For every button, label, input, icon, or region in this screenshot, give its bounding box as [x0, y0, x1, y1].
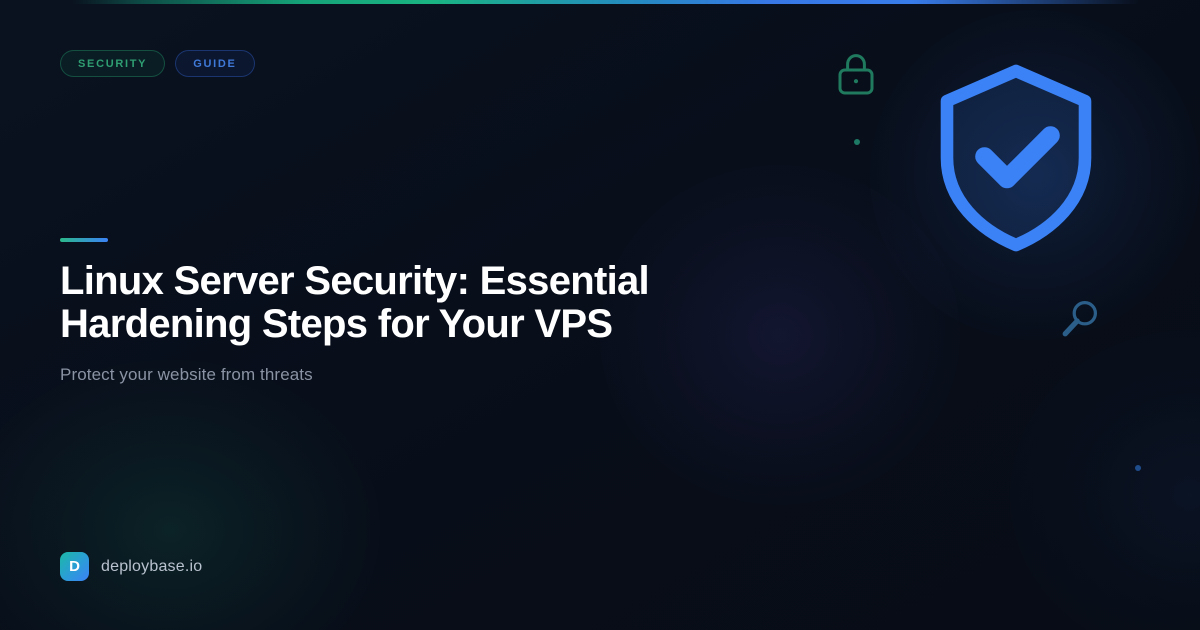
badge-security[interactable]: SECURITY [60, 50, 165, 77]
top-gradient-bar [0, 0, 1200, 4]
lock-icon [834, 50, 878, 103]
shield-check-icon [938, 62, 1094, 259]
background-glow-right-edge [1010, 330, 1200, 630]
brand-logo: D [60, 552, 89, 581]
brand-name: deploybase.io [101, 558, 202, 576]
badge-row: SECURITY GUIDE [60, 50, 255, 77]
page-title: Linux Server Security: Essential Hardeni… [60, 260, 720, 346]
brand-footer[interactable]: D deploybase.io [60, 552, 202, 581]
magnifying-glass-icon [1060, 298, 1100, 345]
accent-dot-teal [854, 139, 860, 145]
badge-guide[interactable]: GUIDE [175, 50, 254, 77]
background-glow-green [0, 360, 380, 630]
accent-rule [60, 238, 108, 242]
social-share-card: SECURITY GUIDE Linux Server Security: Es… [0, 0, 1200, 630]
accent-dot-blue [1135, 465, 1141, 471]
page-subtitle: Protect your website from threats [60, 365, 313, 385]
background-glow-blue [870, 10, 1200, 340]
